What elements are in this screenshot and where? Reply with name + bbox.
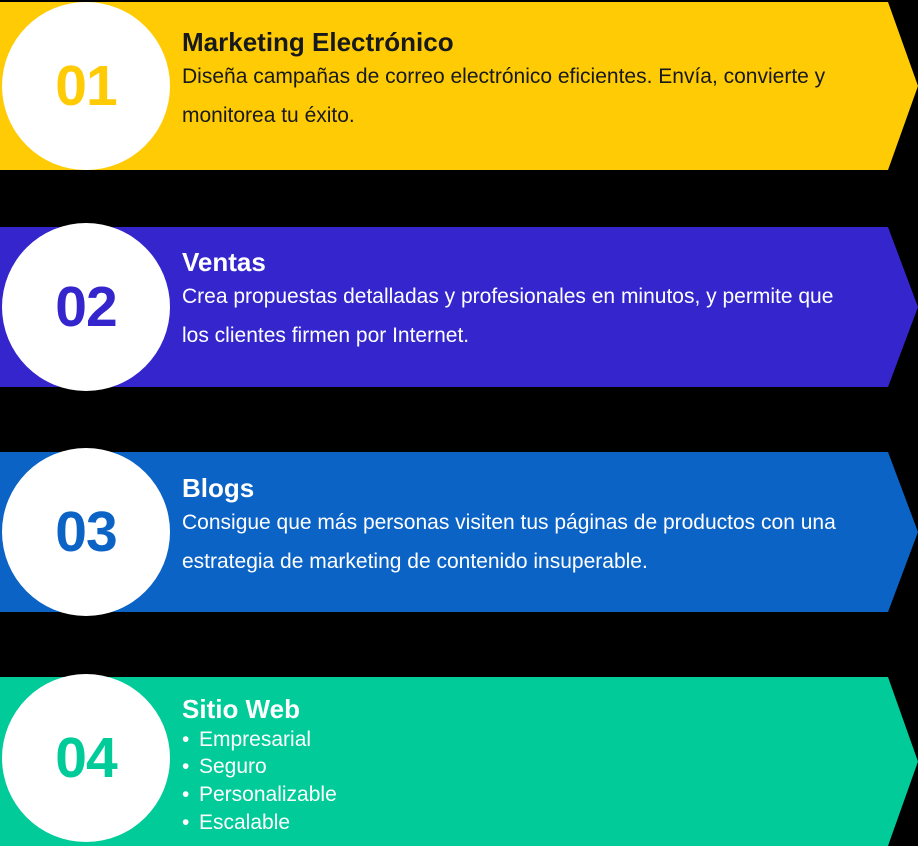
step-content-02: Ventas Crea propuestas detalladas y prof… bbox=[182, 247, 878, 355]
step-number-03: 03 bbox=[55, 504, 116, 561]
step-title-02: Ventas bbox=[182, 247, 878, 278]
step-number-01: 01 bbox=[55, 58, 116, 115]
feature-list-item: Seguro bbox=[182, 753, 878, 781]
feature-list-item: Escalable bbox=[182, 809, 878, 837]
step-number-04: 04 bbox=[55, 730, 116, 787]
step-badge-02: 02 bbox=[2, 223, 170, 391]
step-title-04: Sitio Web bbox=[182, 694, 878, 725]
step-content-04: Sitio Web EmpresarialSeguroPersonalizabl… bbox=[182, 694, 878, 837]
step-feature-list-04: EmpresarialSeguroPersonalizableEscalable bbox=[182, 726, 878, 837]
feature-list-item: Empresarial bbox=[182, 726, 878, 754]
step-badge-03: 03 bbox=[2, 448, 170, 616]
step-description-01: Diseña campañas de correo electrónico ef… bbox=[182, 58, 862, 136]
step-item-03: 03 Blogs Consigue que más personas visit… bbox=[0, 452, 918, 612]
step-item-02: 02 Ventas Crea propuestas detalladas y p… bbox=[0, 227, 918, 387]
step-badge-04: 04 bbox=[2, 674, 170, 842]
step-description-03: Consigue que más personas visiten tus pá… bbox=[182, 504, 862, 582]
step-item-04: 04 Sitio Web EmpresarialSeguroPersonaliz… bbox=[0, 677, 918, 846]
step-description-02: Crea propuestas detalladas y profesional… bbox=[182, 278, 862, 356]
step-title-03: Blogs bbox=[182, 473, 878, 504]
step-content-03: Blogs Consigue que más personas visiten … bbox=[182, 473, 878, 581]
feature-list-item: Personalizable bbox=[182, 781, 878, 809]
step-title-01: Marketing Electrónico bbox=[182, 27, 878, 58]
step-item-01: 01 Marketing Electrónico Diseña campañas… bbox=[0, 2, 918, 170]
step-content-01: Marketing Electrónico Diseña campañas de… bbox=[182, 27, 878, 135]
steps-infographic: 01 Marketing Electrónico Diseña campañas… bbox=[0, 0, 918, 846]
step-badge-01: 01 bbox=[2, 2, 170, 170]
step-number-02: 02 bbox=[55, 279, 116, 336]
